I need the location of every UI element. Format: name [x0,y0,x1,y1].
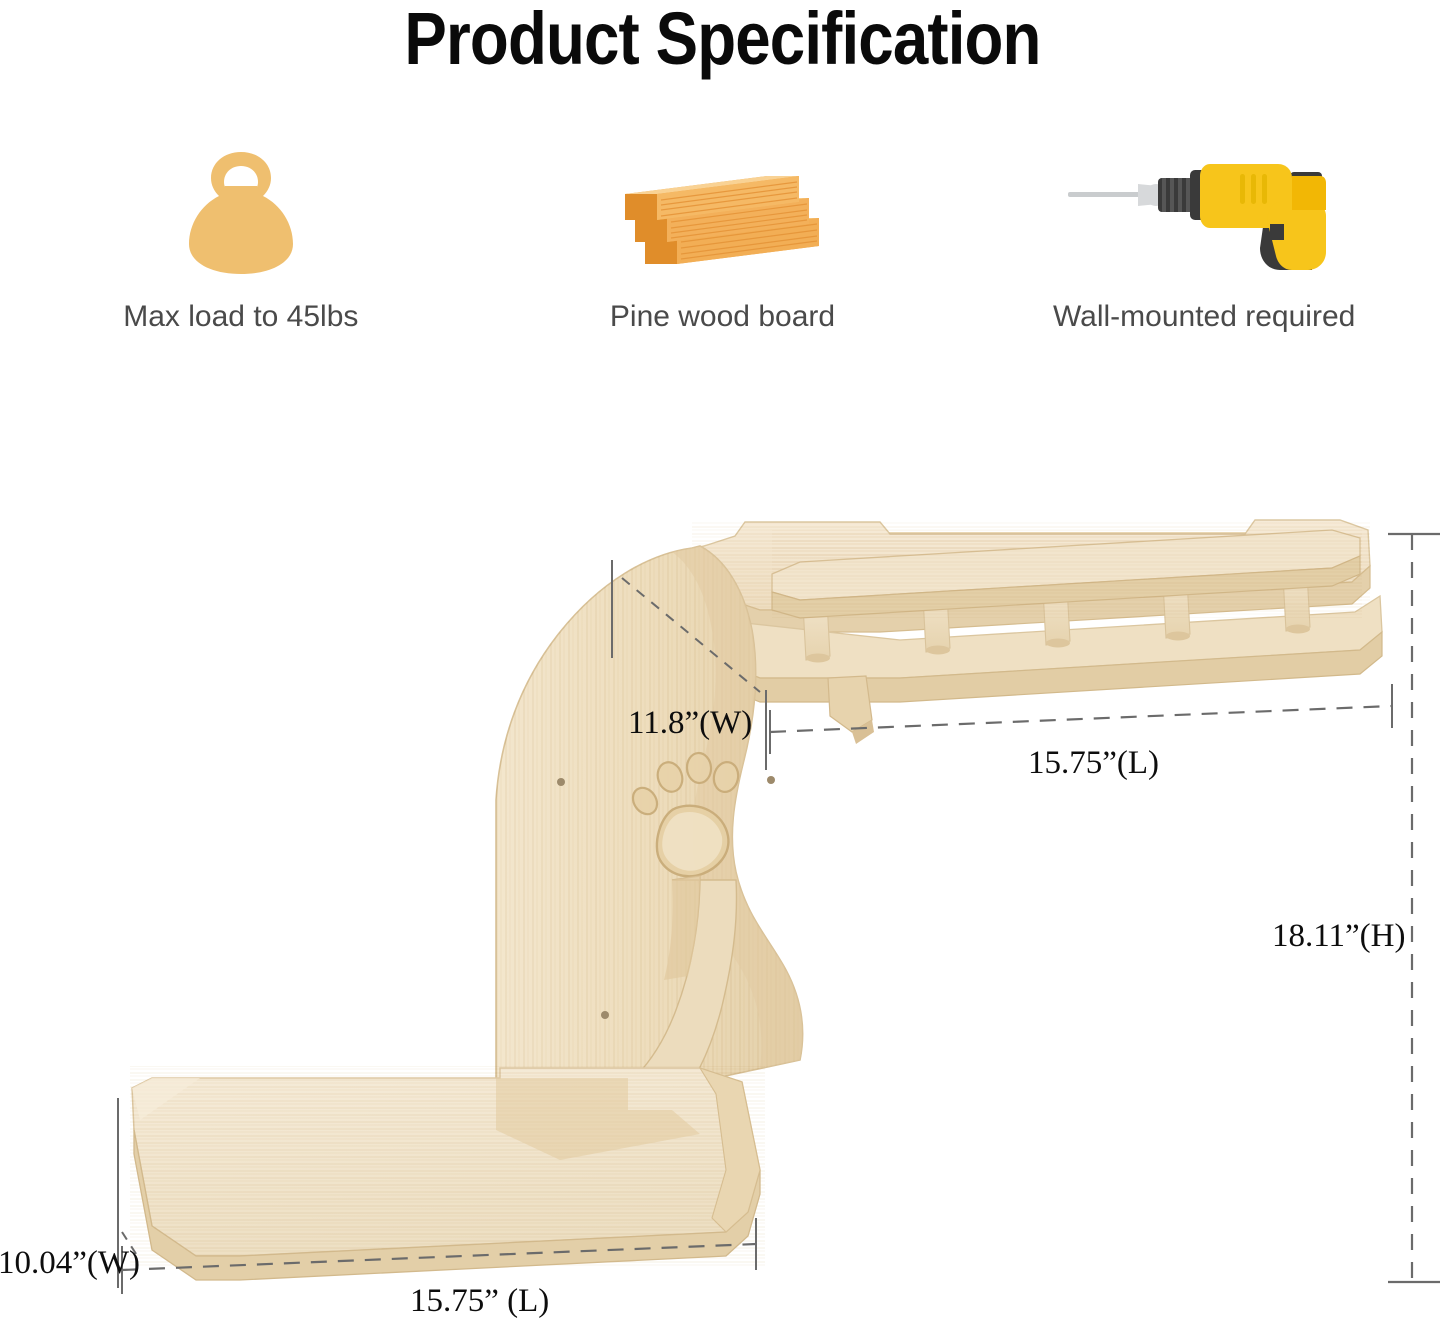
dimension-overall-height: 18.11”(H) [1272,918,1405,955]
dimension-top-shelf-length: 15.75”(L) [1028,745,1159,782]
dimension-bottom-shelf-length: 15.75” (L) [410,1283,549,1320]
kettlebell-icon [181,138,301,278]
feature-material: Pine wood board [482,138,964,334]
feature-row: Max load to 45lbs [0,138,1445,334]
feature-max-load: Max load to 45lbs [0,138,482,334]
feature-label: Wall-mounted required [1053,300,1355,334]
wood-boards-icon [607,138,837,278]
feature-mounting: Wall-mounted required [963,138,1445,334]
dimension-top-shelf-width: 11.8”(W) [628,705,752,742]
product-illustration [0,470,1445,1328]
page-title: Product Specification [101,0,1344,81]
top-shelf [692,520,1382,744]
feature-label: Pine wood board [610,300,835,334]
dimension-bottom-shelf-width: 10.04”(W) [0,1245,140,1282]
power-drill-icon [1054,138,1354,278]
feature-label: Max load to 45lbs [123,300,358,334]
